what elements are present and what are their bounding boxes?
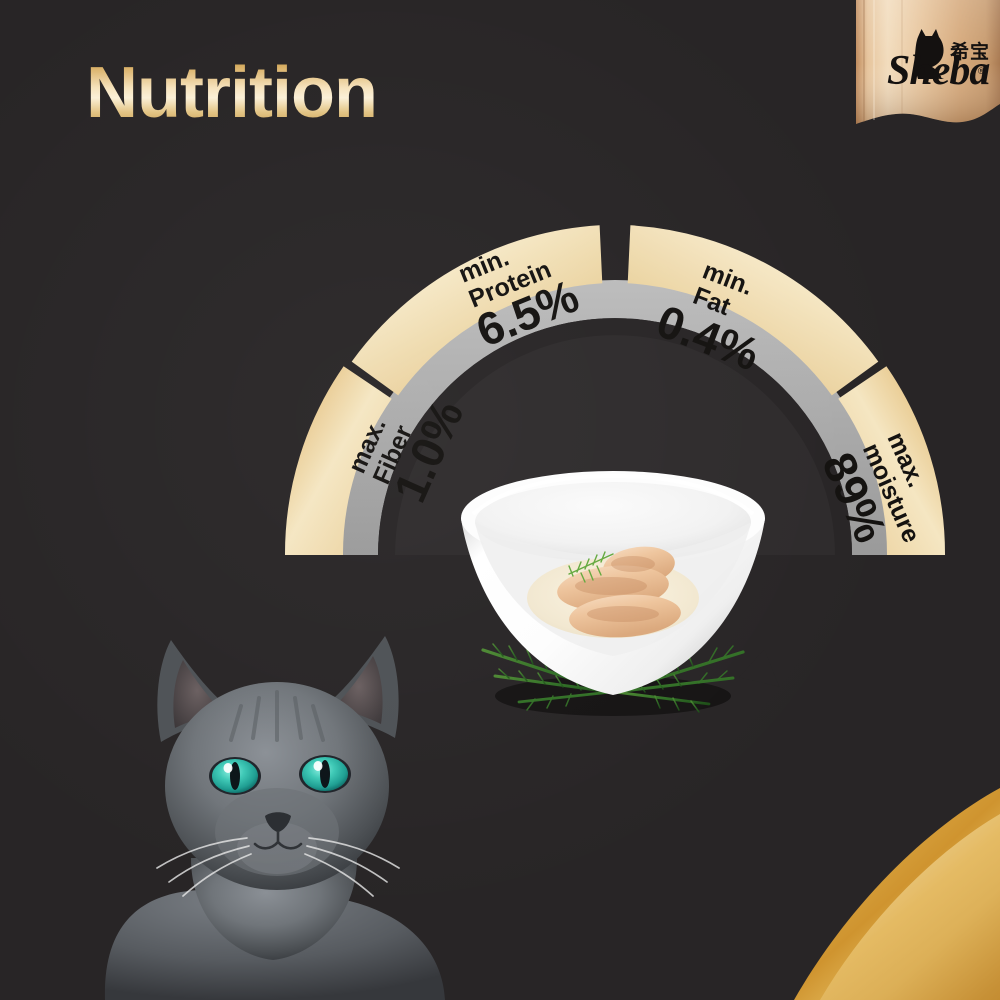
- cat-eye-right: [299, 755, 351, 793]
- poster-canvas: Nutrition: [0, 0, 1000, 1000]
- corner-gold-swoosh: [780, 770, 1000, 1000]
- cat-eye-left: [209, 757, 261, 795]
- page-title: Nutrition: [86, 56, 377, 132]
- registered-mark: ®: [978, 66, 985, 76]
- cat-portrait-image: [95, 600, 495, 1000]
- brand-wordmark-cjk: 希宝: [950, 40, 990, 63]
- brand-logo: Sheba ® 希宝: [840, 0, 1000, 136]
